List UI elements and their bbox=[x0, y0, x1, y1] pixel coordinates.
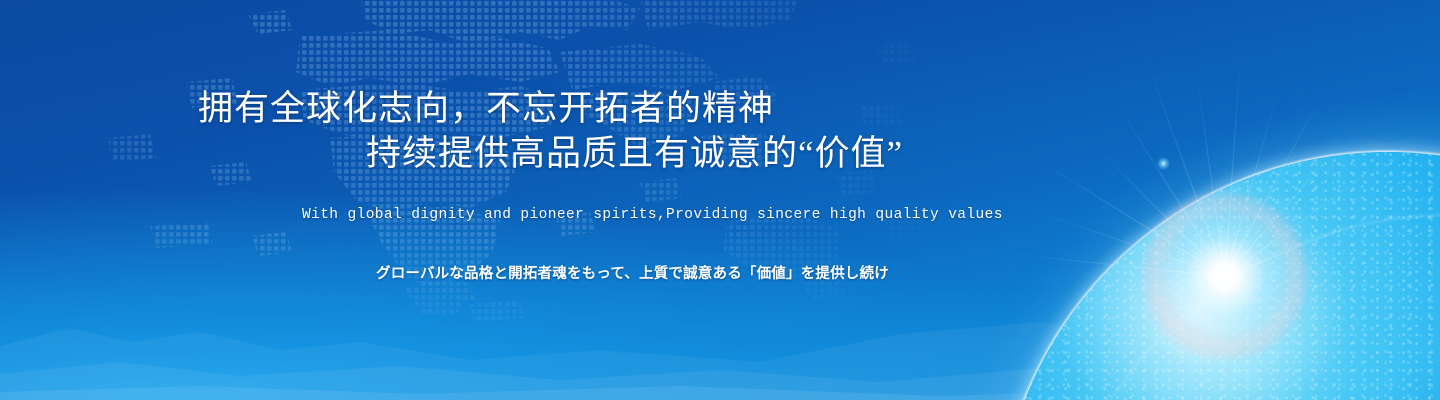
sun-core bbox=[1130, 181, 1320, 371]
banner-headline: 拥有全球化志向，不忘开拓者的精神 持续提供高品质且有诚意的“价值” bbox=[198, 86, 903, 176]
headline-line-2: 持续提供高品质且有诚意的“价值” bbox=[198, 131, 903, 176]
headline-line-1: 拥有全球化志向，不忘开拓者的精神 bbox=[198, 89, 774, 128]
subtitle-english: With global dignity and pioneer spirits,… bbox=[302, 207, 1003, 223]
subtitle-japanese: グローバルな品格と開拓者魂をもって、上質で誠意ある「価値」を提供し続け bbox=[376, 262, 889, 283]
hero-banner: 拥有全球化志向，不忘开拓者的精神 持续提供高品质且有诚意的“价值” With g… bbox=[0, 0, 1440, 400]
banner-copy: 拥有全球化志向，不忘开拓者的精神 持续提供高品质且有诚意的“价值” With g… bbox=[0, 0, 1060, 400]
star-glint bbox=[1157, 157, 1170, 170]
